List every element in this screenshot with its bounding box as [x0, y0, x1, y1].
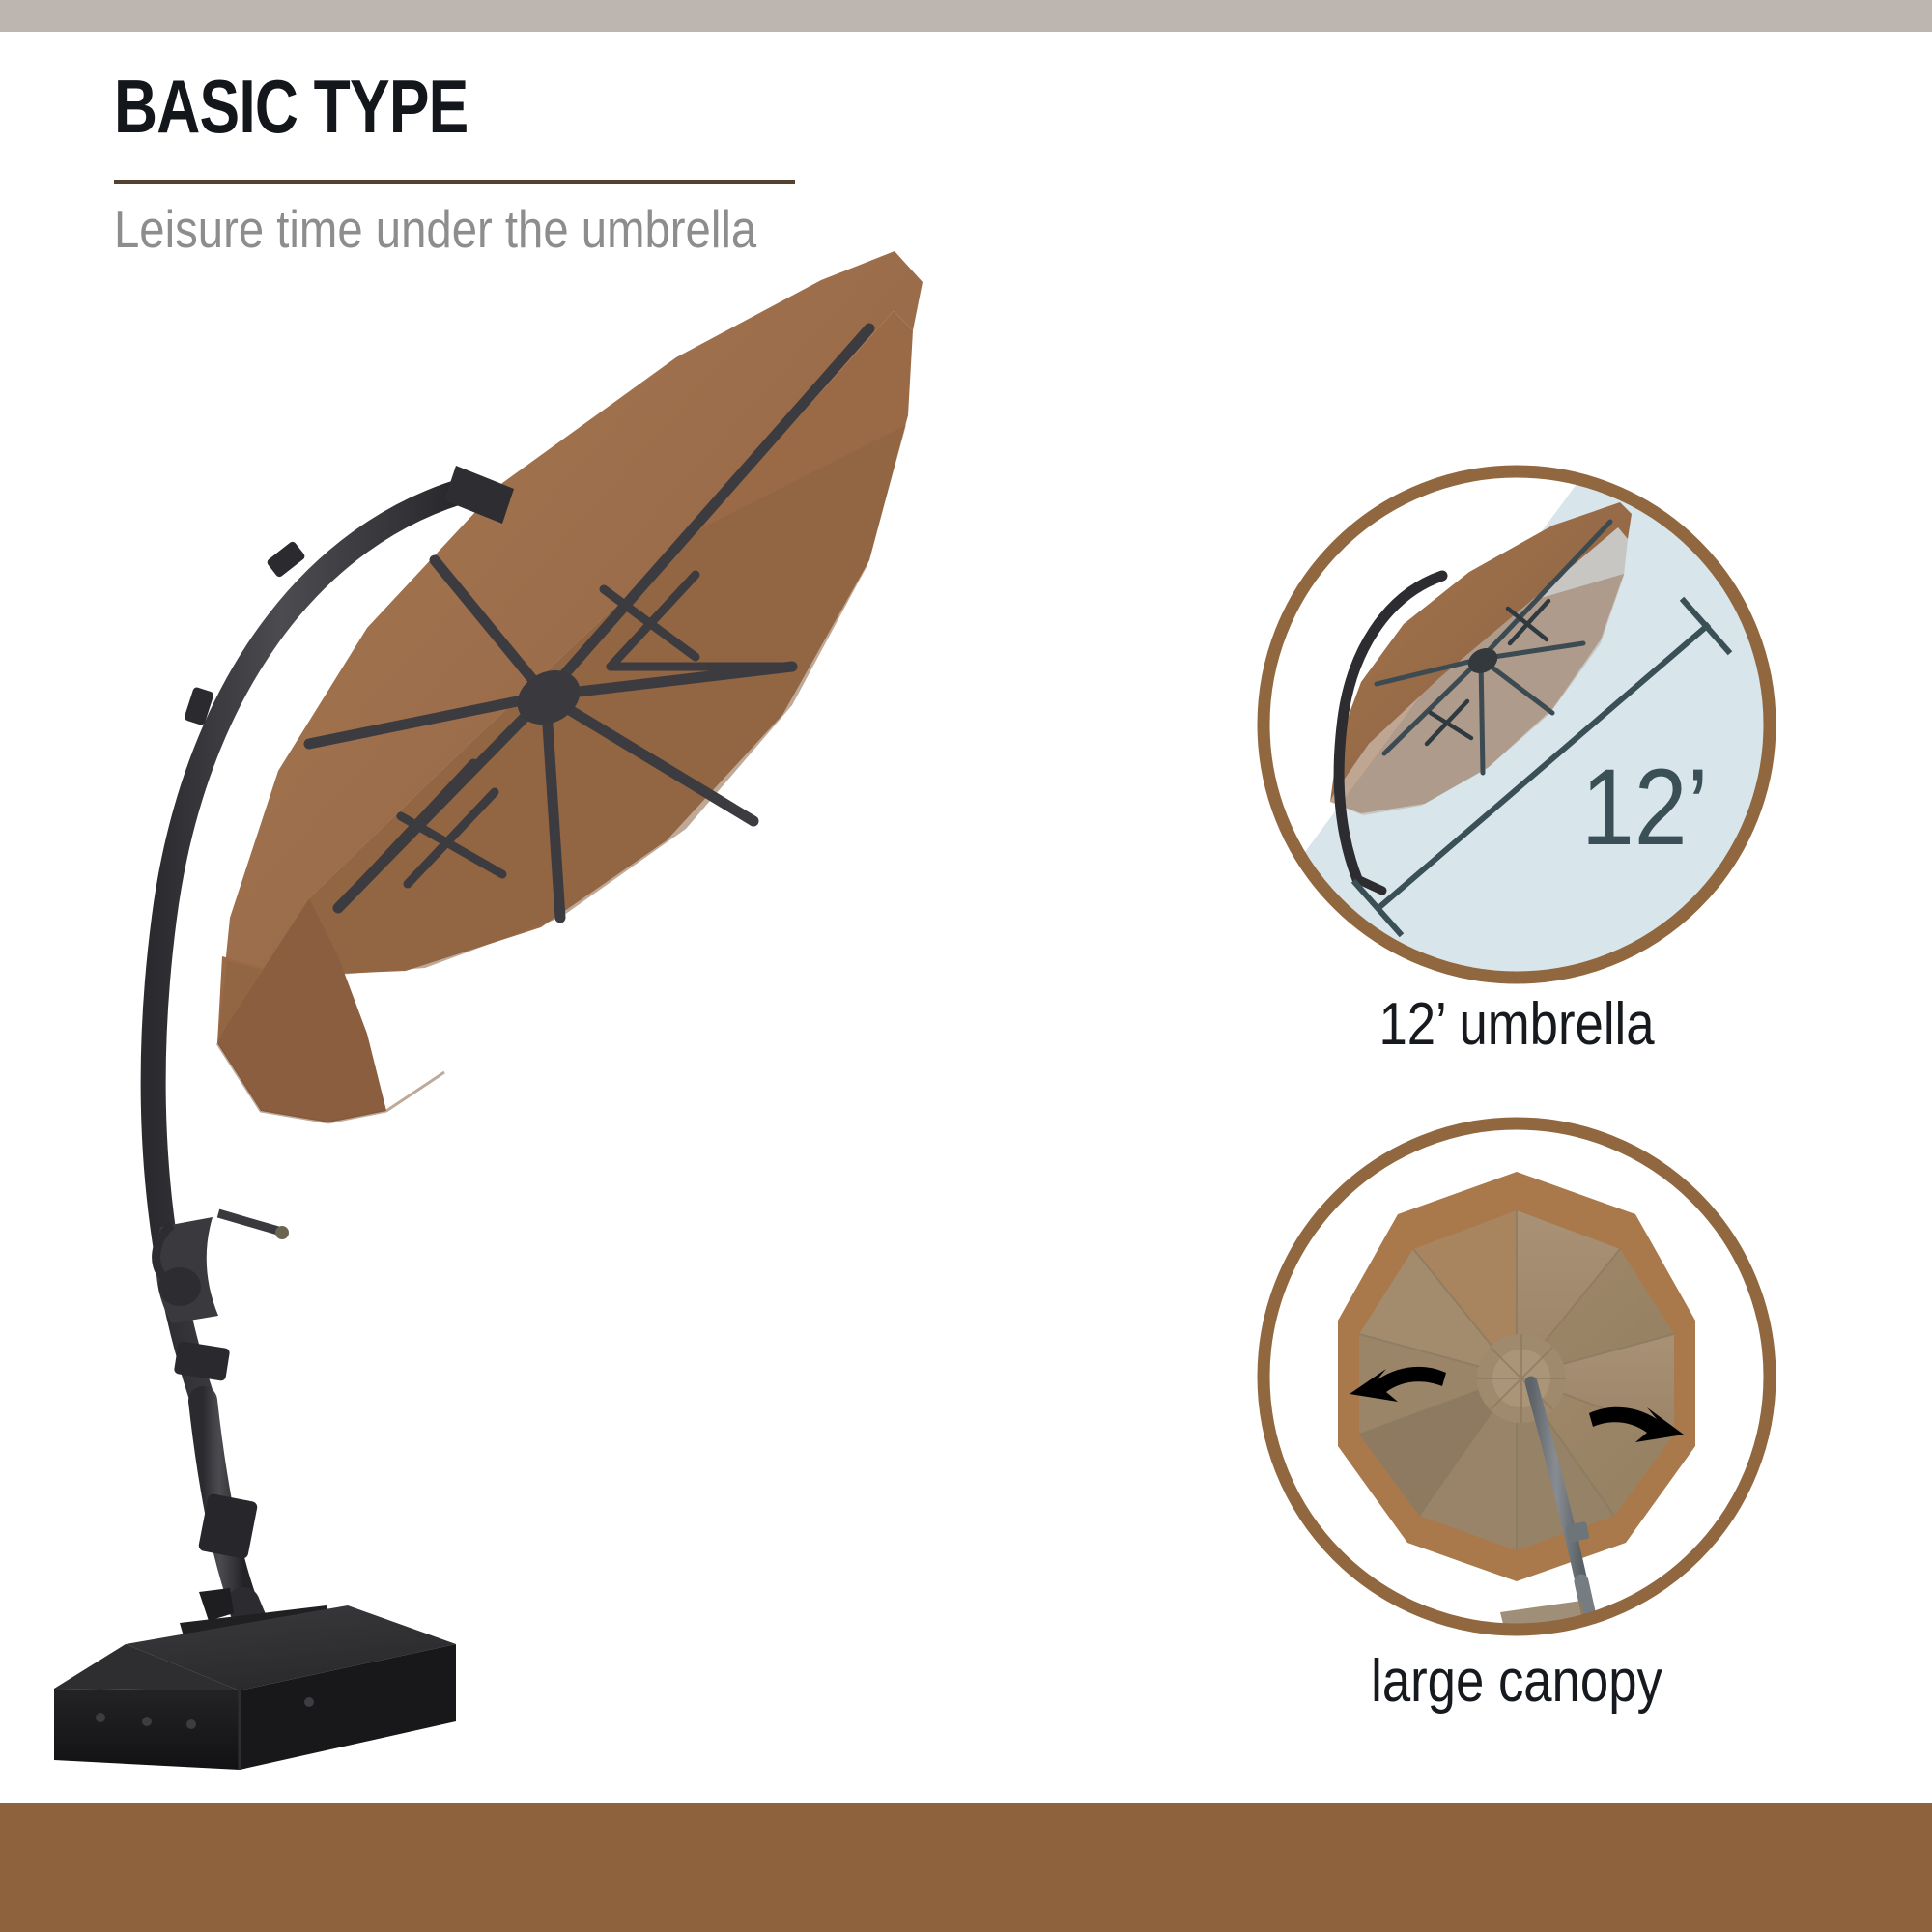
base-screw	[96, 1713, 105, 1722]
hero-product-image	[19, 241, 1043, 1806]
dimension-value-label: 12’	[1581, 748, 1709, 867]
feature-caption-12ft: 12’ umbrella	[1283, 990, 1751, 1059]
top-accent-band	[0, 0, 1932, 32]
umbrella-span-dimension-icon: 12’	[1241, 454, 1792, 995]
bottom-accent-band	[0, 1803, 1932, 1932]
crank-handle-rod[interactable]	[218, 1213, 278, 1231]
title-divider-rule	[114, 180, 795, 184]
crank-mechanism-group[interactable]	[156, 1213, 289, 1559]
header-block: BASIC TYPE	[114, 70, 906, 143]
canopy-top-view-icon	[1241, 1106, 1792, 1647]
umbrella-base-group	[54, 1588, 456, 1770]
base-screw	[186, 1719, 196, 1729]
feature-callout-canopy: large canopy	[1241, 1106, 1792, 1782]
canopy-top-view-group	[1338, 1172, 1695, 1643]
base-pin-lever	[199, 1588, 234, 1621]
base-screw	[142, 1717, 152, 1726]
page-title: BASIC TYPE	[114, 70, 748, 143]
base-front-face	[54, 1689, 240, 1770]
umbrella-illustration	[19, 241, 1043, 1806]
pole-collar-upper	[266, 540, 306, 579]
feature-callout-12ft: 12’ 12’ umbrella	[1241, 454, 1792, 1130]
crank-handle-tip	[275, 1226, 289, 1239]
base-screw	[304, 1697, 314, 1707]
feature-caption-canopy: large canopy	[1283, 1647, 1751, 1716]
